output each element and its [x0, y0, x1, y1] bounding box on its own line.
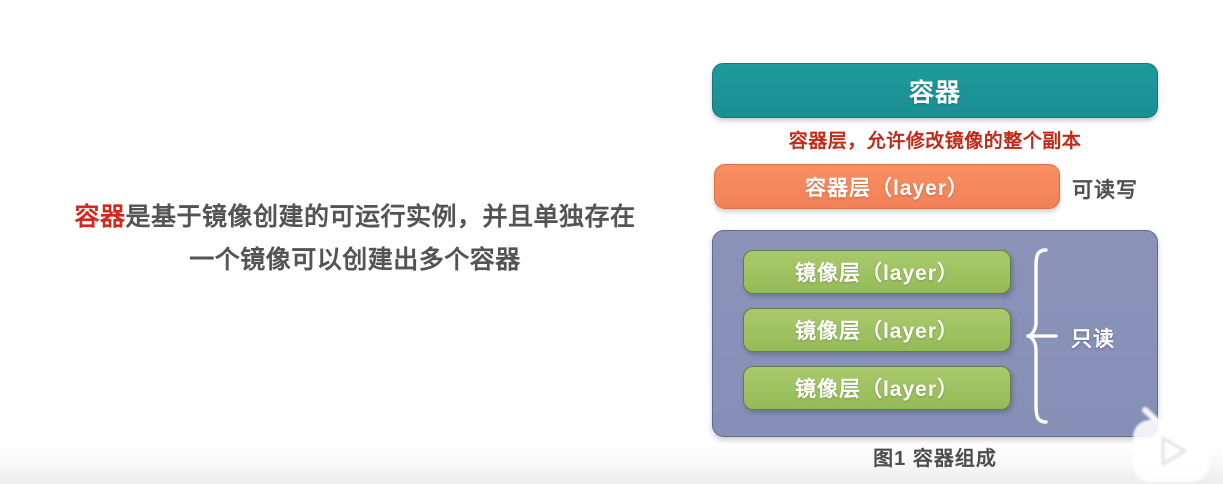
- explanatory-text: 容器是基于镜像创建的可运行实例，并且单独存在 一个镜像可以创建出多个容器: [55, 196, 655, 282]
- image-layer-label: 镜像层（layer）: [795, 315, 959, 345]
- container-box: 容器: [712, 63, 1158, 118]
- figure-caption: 图1 容器组成: [712, 442, 1158, 471]
- explanatory-text-line-1: 容器是基于镜像创建的可运行实例，并且单独存在: [55, 196, 655, 239]
- slide-canvas: 容器是基于镜像创建的可运行实例，并且单独存在 一个镜像可以创建出多个容器 容器 …: [0, 0, 1223, 484]
- image-layer-box: 镜像层（layer）: [743, 250, 1011, 294]
- image-layer-box: 镜像层（layer）: [743, 308, 1011, 352]
- image-layer-label: 镜像层（layer）: [795, 373, 959, 403]
- image-layer-label: 镜像层（layer）: [795, 257, 959, 287]
- read-write-label: 可读写: [1072, 174, 1138, 204]
- keyword-container: 容器: [74, 203, 125, 231]
- image-layer-box: 镜像层（layer）: [743, 366, 1011, 410]
- container-layer-box-label: 容器层（layer）: [805, 172, 969, 202]
- container-layer-annotation: 容器层，允许修改镜像的整个副本: [712, 126, 1158, 153]
- read-only-label: 只读: [1071, 323, 1115, 353]
- container-composition-diagram: 容器 容器层，允许修改镜像的整个副本 容器层（layer） 可读写 镜像层（la…: [700, 48, 1200, 484]
- image-layers-group: 镜像层（layer） 镜像层（layer） 镜像层（layer） 只读: [712, 230, 1158, 437]
- explanatory-text-line-1-rest: 是基于镜像创建的可运行实例，并且单独存在: [126, 203, 636, 231]
- container-layer-box: 容器层（layer）: [714, 164, 1060, 209]
- explanatory-text-line-2: 一个镜像可以创建出多个容器: [55, 239, 655, 282]
- container-box-label: 容器: [909, 73, 961, 109]
